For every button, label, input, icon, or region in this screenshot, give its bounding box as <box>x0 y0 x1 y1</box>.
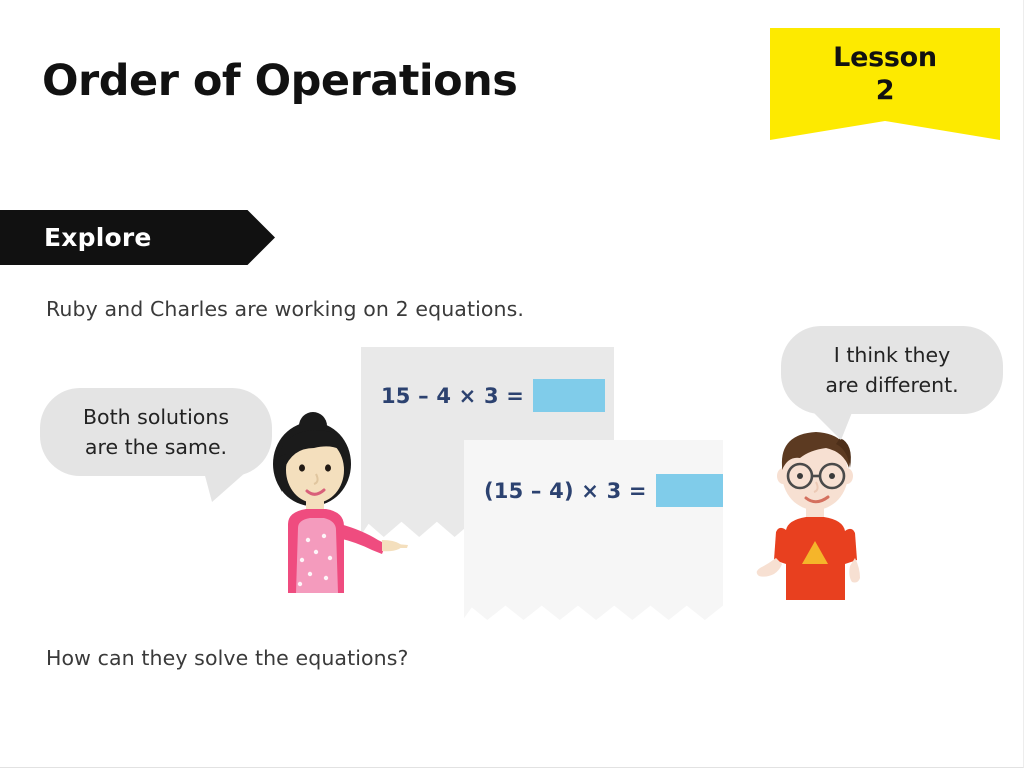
section-ribbon-explore: Explore <box>0 210 275 265</box>
speech-bubble-charles: I think they are different. <box>781 326 1003 414</box>
lesson-badge-number: 2 <box>770 75 1000 108</box>
speech-bubble-ruby-line2: are the same. <box>85 432 227 462</box>
equation-card-2: (15 – 4) × 3 = <box>464 440 723 620</box>
page-title: Order of Operations <box>42 56 517 106</box>
speech-bubble-ruby-line1: Both solutions <box>83 402 229 432</box>
speech-bubble-charles-tail <box>811 410 853 440</box>
equation-expression-2: (15 – 4) × 3 = <box>484 479 647 503</box>
equation-expression-1: 15 – 4 × 3 = <box>381 384 524 408</box>
equation-row-1: 15 – 4 × 3 = <box>381 379 605 412</box>
equation-row-2: (15 – 4) × 3 = <box>484 474 729 507</box>
speech-bubble-ruby-tail <box>204 472 246 502</box>
speech-bubble-ruby: Both solutions are the same. <box>40 388 272 476</box>
intro-text: Ruby and Charles are working on 2 equati… <box>46 297 524 321</box>
lesson-badge-word: Lesson <box>770 42 1000 75</box>
girl-illustration <box>258 408 408 593</box>
slide-canvas: Order of Operations Lesson 2 Explore Rub… <box>0 0 1024 768</box>
boy-illustration <box>752 418 887 600</box>
section-ribbon-label: Explore <box>44 223 152 252</box>
character-ruby <box>258 408 408 593</box>
question-text: How can they solve the equations? <box>46 646 409 670</box>
character-charles <box>752 418 887 600</box>
speech-bubble-charles-line1: I think they <box>834 340 950 370</box>
answer-box-2[interactable] <box>656 474 729 507</box>
lesson-badge: Lesson 2 <box>770 28 1000 140</box>
speech-bubble-charles-line2: are different. <box>825 370 958 400</box>
answer-box-1[interactable] <box>533 379 605 412</box>
